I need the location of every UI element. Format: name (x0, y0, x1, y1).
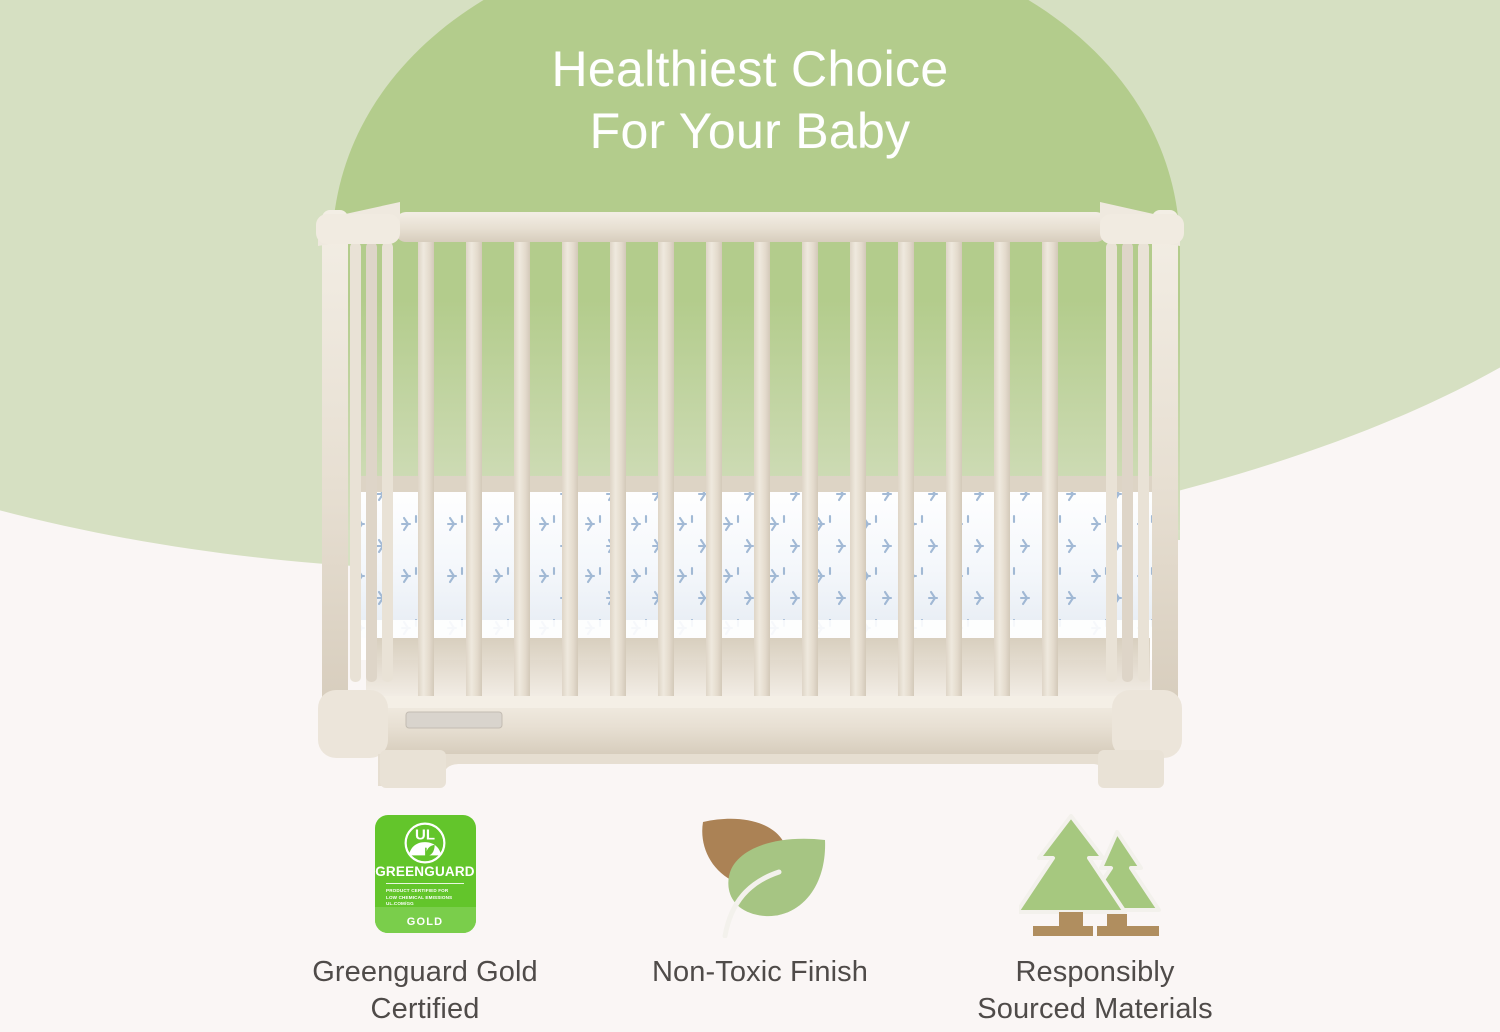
crib-slat (610, 234, 626, 704)
feature-label-non-toxic: Non-Toxic Finish (652, 954, 868, 991)
feature-responsibly-sourced-materials: Responsibly Sourced Materials (940, 808, 1250, 1028)
ground-bar-left (1033, 926, 1093, 936)
greenguard-gold-badge-icon: UL GREENGUARD PRODUCT CERTIFIED FOR LOW … (375, 808, 476, 940)
crib-slat (802, 234, 818, 704)
crib-leg-left (380, 750, 446, 788)
crib-slat (466, 234, 482, 704)
trees-svg (1019, 810, 1171, 938)
crib-top-rail-front (396, 212, 1106, 242)
tree-back-trunk (1107, 914, 1127, 926)
crib-base-and-legs (378, 754, 1162, 786)
crib-product-image (300, 190, 1200, 790)
feature-label-greenguard: Greenguard Gold Certified (312, 954, 538, 1028)
crib-svg (300, 190, 1200, 790)
crib-top-post-cap-right (1100, 214, 1184, 244)
crib-left-end-slat (350, 242, 361, 682)
crib-apron-cap-left (318, 690, 388, 758)
svg-text:UL: UL (415, 826, 435, 843)
crib-slat (994, 234, 1010, 704)
tree-front-trunk (1059, 912, 1083, 928)
crib-right-end-slat (1122, 242, 1133, 682)
feature-row: UL GREENGUARD PRODUCT CERTIFIED FOR LOW … (270, 808, 1250, 1028)
feature-label-responsibly-sourced: Responsibly Sourced Materials (977, 954, 1212, 1028)
crib-leg-right (1098, 750, 1164, 788)
feature-greenguard-gold-certified: UL GREENGUARD PRODUCT CERTIFIED FOR LOW … (270, 808, 580, 1028)
two-leaves-icon (687, 808, 833, 940)
crib-left-end-slat (366, 242, 377, 682)
ground-bar-right (1097, 926, 1159, 936)
crib-corner-post-left (322, 210, 348, 710)
crib-right-end-slat (1138, 242, 1149, 682)
crib-corner-post-right (1152, 210, 1178, 710)
ul-mark-icon: UL (403, 821, 447, 865)
headline: Healthiest Choice For Your Baby (0, 38, 1500, 162)
greenguard-divider (386, 883, 464, 884)
crib-slat (946, 234, 962, 704)
crib-slat (754, 234, 770, 704)
crib-brand-plate (406, 712, 502, 728)
crib-slat (898, 234, 914, 704)
crib-slat (418, 234, 434, 704)
feature-non-toxic-finish: Non-Toxic Finish (605, 808, 915, 991)
crib-slat (658, 234, 674, 704)
greenguard-badge: UL GREENGUARD PRODUCT CERTIFIED FOR LOW … (375, 815, 476, 933)
crib-slat (850, 234, 866, 704)
leaves-svg (687, 810, 833, 938)
headline-line-1: Healthiest Choice (552, 41, 949, 97)
crib-right-end-slat (1106, 242, 1117, 682)
greenguard-wordmark: GREENGUARD (375, 864, 475, 879)
crib-slat (1042, 234, 1058, 704)
headline-line-2: For Your Baby (0, 100, 1500, 162)
crib-slat (706, 234, 722, 704)
product-feature-banner: Healthiest Choice For Your Baby (0, 0, 1500, 1032)
crib-top-post-cap-left (316, 214, 400, 244)
pine-trees-icon (1019, 808, 1171, 940)
crib-slat (514, 234, 530, 704)
greenguard-tier-label: GOLD (375, 916, 476, 928)
crib-slat (562, 234, 578, 704)
crib-lower-apron-highlight (326, 696, 1174, 708)
crib-apron-cap-right (1112, 690, 1182, 758)
crib-left-end-slat (382, 242, 393, 682)
